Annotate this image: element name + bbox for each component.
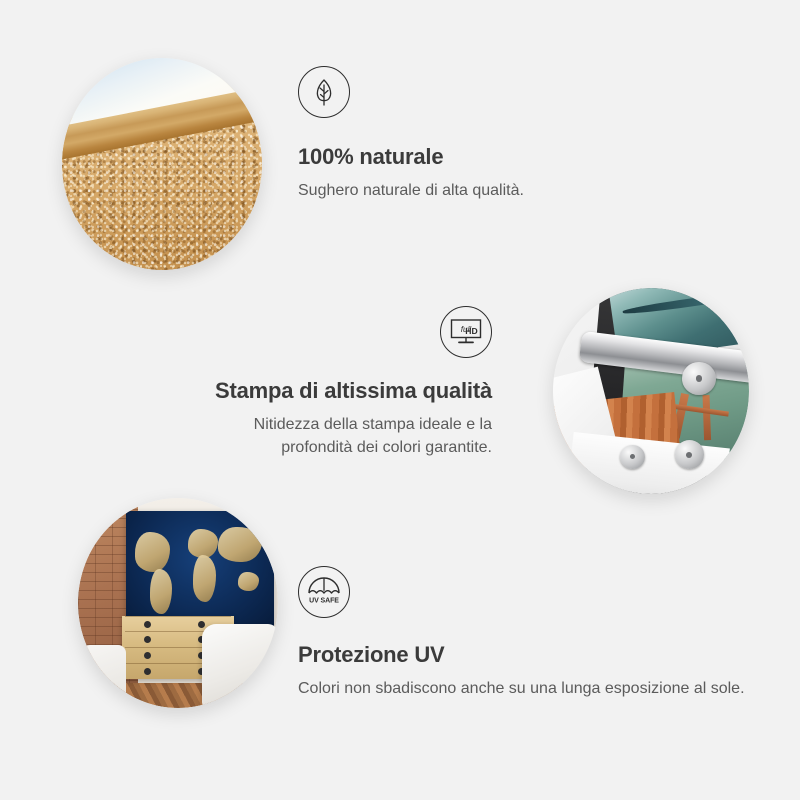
feature-title: Protezione UV [298, 642, 745, 668]
leaf-icon-wrap [298, 66, 524, 118]
feature-description: Nitidezza della stampa ideale e la profo… [186, 413, 492, 459]
fullhd-monitor-icon: full HD [440, 306, 492, 358]
feature-title: 100% naturale [298, 144, 524, 170]
feature-description: Colori non sbadiscono anche su una lunga… [298, 677, 745, 700]
map-landmass-4 [193, 555, 217, 602]
feature-title: Stampa di altissima qualità [186, 378, 492, 404]
world-map-artwork [126, 511, 274, 629]
promo-page: 100% naturale Sughero naturale di alta q… [0, 0, 800, 800]
map-landmass-6 [238, 572, 259, 591]
map-landmass-1 [135, 532, 171, 572]
feature-print-quality: full HD Stampa di altissima qualità Niti… [186, 306, 492, 459]
uv-safe-icon-glyph: UV SAFE [304, 574, 344, 610]
printer-photo-inner [553, 288, 749, 494]
canvas-rail-2 [702, 395, 710, 441]
feature-description: Sughero naturale di alta qualità. [298, 179, 524, 202]
uv-safe-umbrella-icon: UV SAFE [298, 566, 350, 618]
map-landmass-3 [188, 529, 218, 557]
cork-texture-photo [62, 58, 262, 270]
feature-uv-protection: UV SAFE Protezione UV Colori non sbadisc… [298, 566, 745, 700]
fullhd-label-bold: HD [465, 326, 477, 336]
room-armchair-right [202, 624, 278, 708]
leaf-icon [298, 66, 350, 118]
printer-knob-3 [620, 445, 645, 470]
printing-machine-photo [553, 288, 749, 494]
room-armchair-left [78, 645, 126, 708]
room-world-map-photo [78, 498, 278, 708]
printer-knob-2 [675, 440, 704, 469]
map-landmass-2 [150, 569, 172, 614]
room-photo-inner [78, 498, 278, 708]
cork-photo-inner [62, 58, 262, 270]
printer-knob-1 [682, 362, 715, 395]
feature-natural: 100% naturale Sughero naturale di alta q… [298, 66, 524, 202]
leaf-icon-glyph [307, 75, 341, 109]
uv-safe-icon-wrap: UV SAFE [298, 566, 745, 618]
map-landmass-5 [218, 527, 262, 562]
uv-safe-label: UV SAFE [309, 598, 339, 605]
fullhd-monitor-icon-wrap: full HD [186, 306, 492, 358]
